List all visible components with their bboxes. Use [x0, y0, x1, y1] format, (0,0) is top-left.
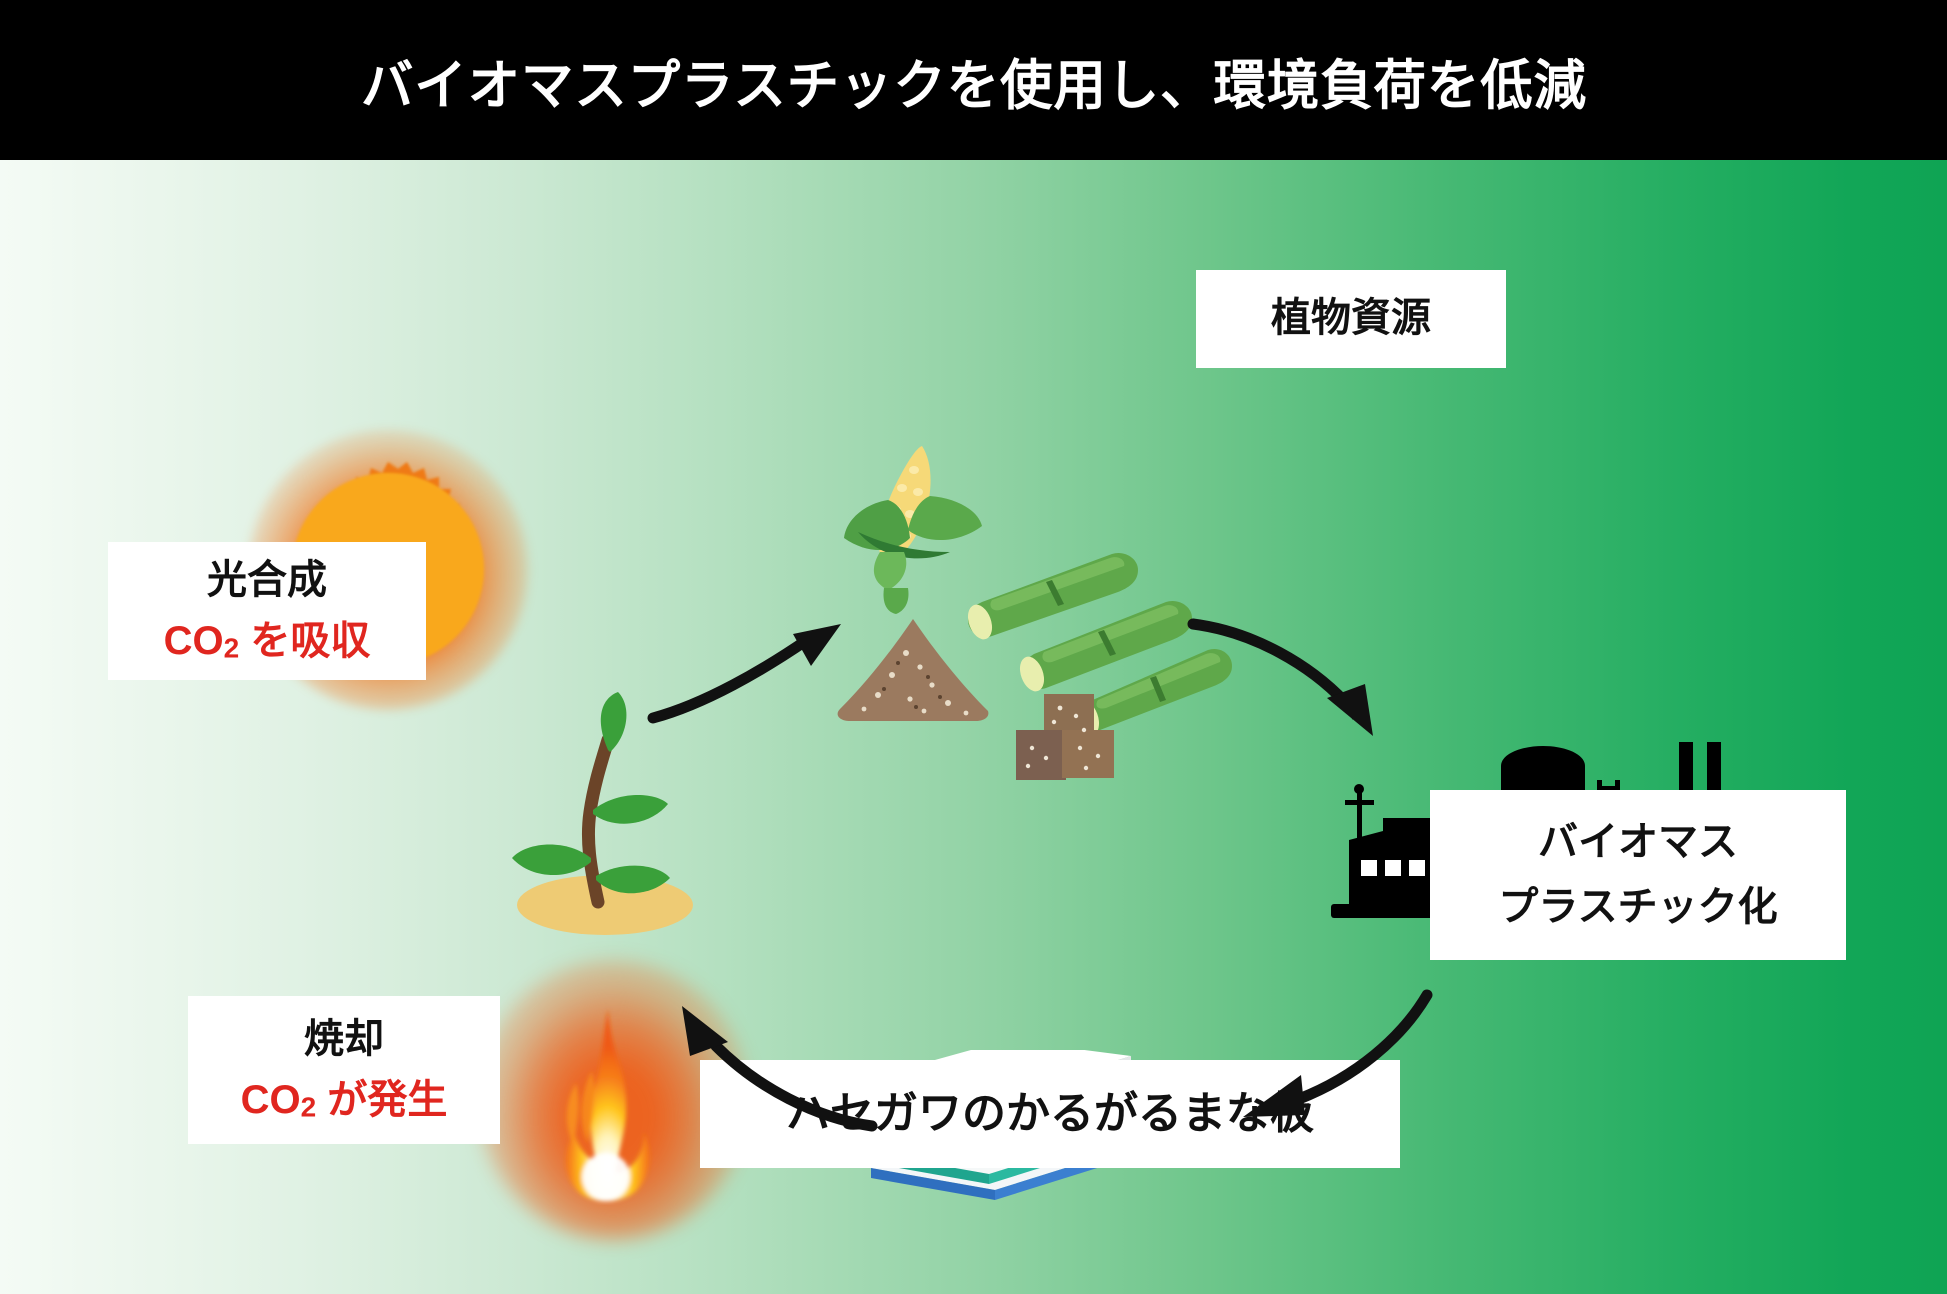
label-plant-resource-text: 植物資源 — [1271, 293, 1431, 344]
co2-subscript: 2 — [301, 1091, 317, 1122]
label-plant-resource: 植物資源 — [1196, 270, 1506, 368]
label-incineration-co2: CO2 が発生 — [241, 1075, 448, 1126]
cube-left — [1016, 730, 1066, 780]
arrow-factory-to-cutting-board — [1205, 985, 1440, 1140]
co2-suffix: を吸収 — [239, 619, 370, 663]
label-photosynthesis-co2: CO2 を吸収 — [164, 616, 371, 667]
label-photosynthesis: 光合成 CO2 を吸収 — [108, 542, 426, 680]
antenna-pole — [1357, 790, 1362, 840]
sprout-leaf-left — [512, 844, 591, 875]
antenna-cross — [1345, 800, 1374, 805]
arrow-cutting-board-to-flame — [620, 990, 880, 1150]
page-title: バイオマスプラスチックを使用し、環境負荷を低減 — [360, 41, 1586, 120]
label-incineration-title: 焼却 — [304, 1014, 384, 1065]
brown-sugar-cubes-icon — [1010, 690, 1130, 790]
co2-prefix: CO — [241, 1078, 301, 1122]
co2-subscript: 2 — [224, 632, 240, 663]
label-biomass-line1: バイオマス — [1538, 817, 1738, 868]
antenna-tip — [1354, 784, 1364, 794]
corn-stalk — [884, 588, 909, 614]
label-photosynthesis-title: 光合成 — [207, 555, 327, 606]
co2-prefix: CO — [164, 619, 224, 663]
label-incineration: 焼却 CO2 が発生 — [188, 996, 500, 1144]
arrow-plant-resources-to-factory — [1185, 610, 1415, 760]
sugar-cubes-drawing — [1010, 690, 1130, 790]
arrow-sprout-to-plant-resources — [645, 600, 875, 730]
header-bar: バイオマスプラスチックを使用し、環境負荷を低減 — [0, 0, 1947, 160]
label-biomass-plastic: バイオマス プラスチック化 — [1430, 790, 1846, 960]
corn-husk-bottom — [874, 552, 906, 590]
diagram-canvas: 光合成 CO2 を吸収 — [0, 160, 1947, 1294]
cube-right — [1062, 730, 1114, 778]
infographic-page: バイオマスプラスチックを使用し、環境負荷を低減 光合成 CO2 を吸収 — [0, 0, 1947, 1294]
sprout-leaf-right-upper — [593, 795, 668, 824]
co2-suffix: が発生 — [316, 1078, 447, 1122]
label-biomass-line2: プラスチック化 — [1498, 882, 1777, 933]
